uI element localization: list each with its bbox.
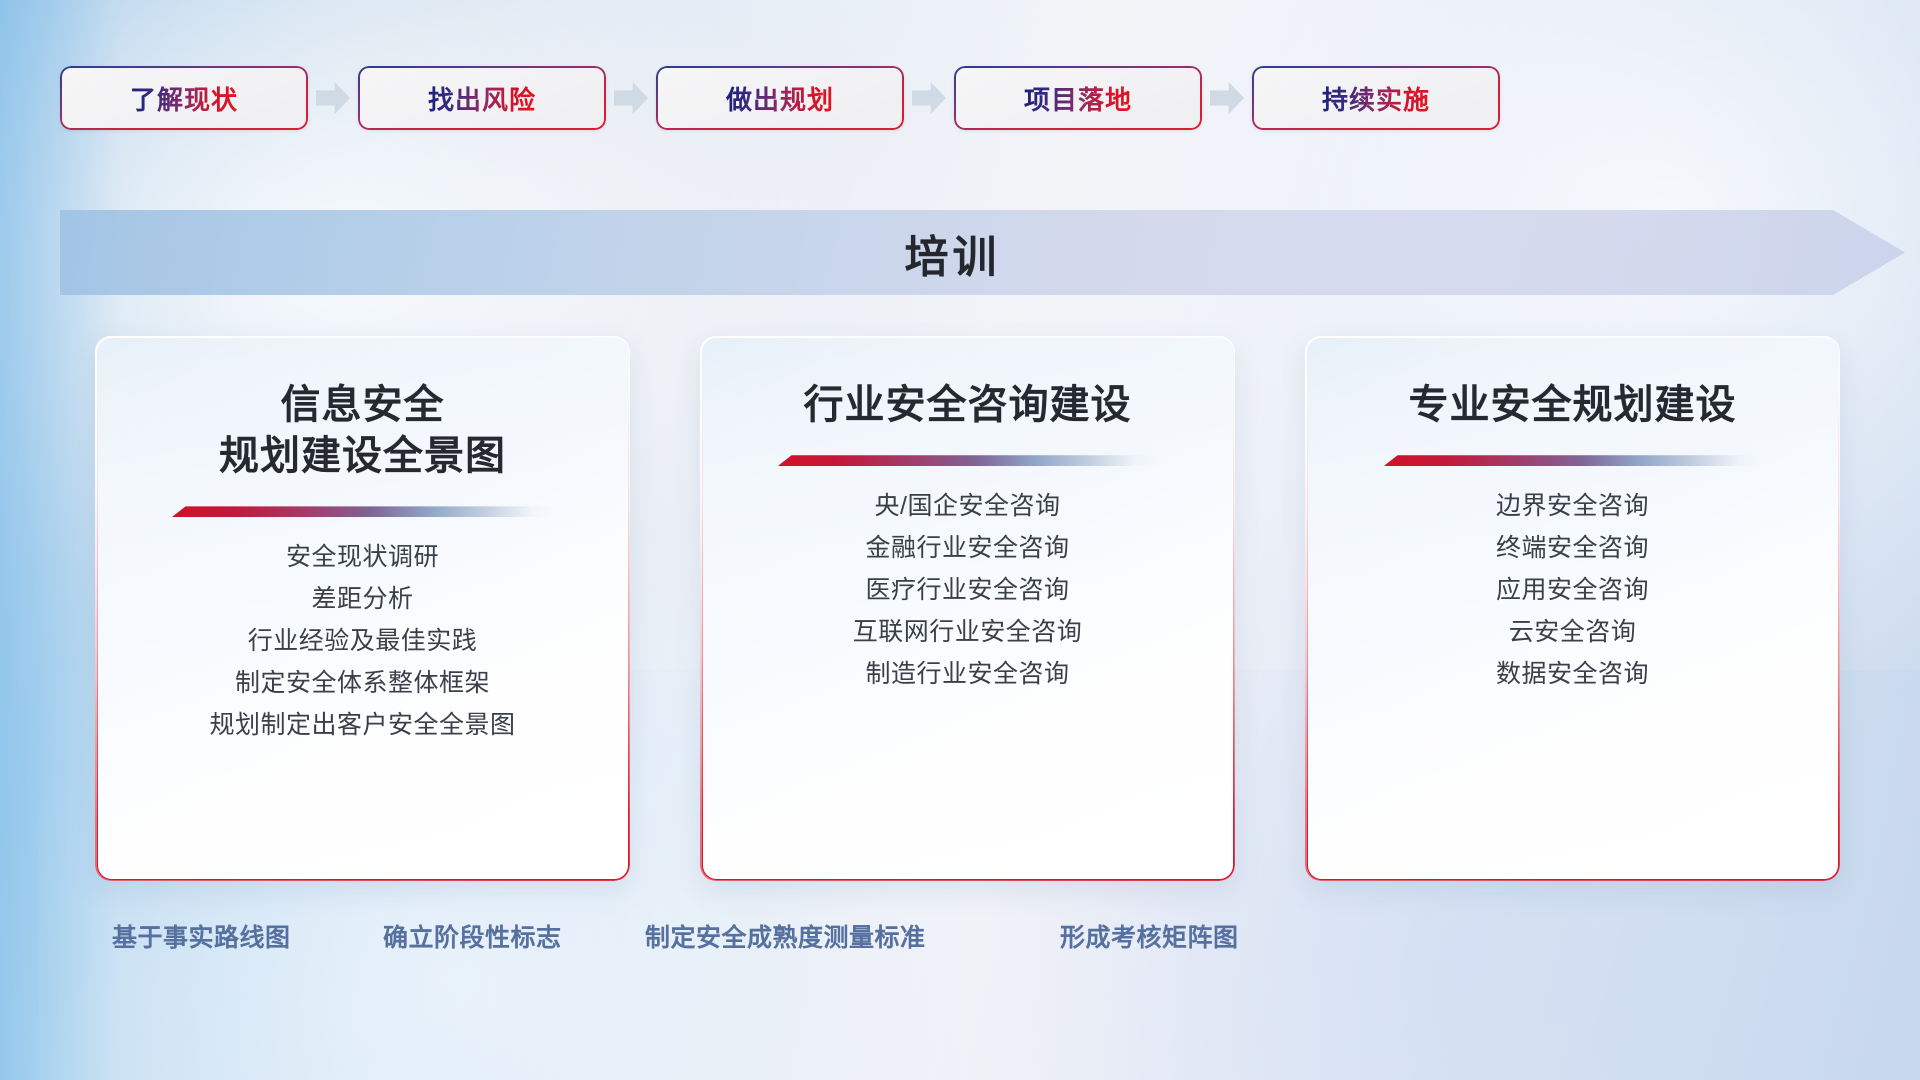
step-pill-3[interactable]: 做出规划 xyxy=(656,66,904,130)
card-divider xyxy=(778,455,1158,466)
list-item: 央/国企安全咨询 xyxy=(853,494,1083,519)
card-information-security-blueprint[interactable]: 信息安全 规划建设全景图 安全现状调研 差距分析 行业经验及最佳实践 制定安全体… xyxy=(95,336,630,881)
process-step-row: 了解现状 找出风险 做出规划 项目落地 持续实施 xyxy=(60,62,1860,134)
step-label: 项目落地 xyxy=(1024,80,1132,117)
list-item: 制造行业安全咨询 xyxy=(853,662,1083,687)
card-industry-security-consulting[interactable]: 行业安全咨询建设 央/国企安全咨询 金融行业安全咨询 医疗行业安全咨询 互联网行… xyxy=(700,336,1235,881)
card-title: 行业安全咨询建设 xyxy=(804,380,1132,431)
banner-title: 培训 xyxy=(60,210,1905,295)
step-pill-1[interactable]: 了解现状 xyxy=(60,66,308,130)
step-arrow-icon-4 xyxy=(1202,78,1252,118)
caption-roadmap: 基于事实路线图 xyxy=(112,918,291,954)
card-item-list: 边界安全咨询 终端安全咨询 应用安全咨询 云安全咨询 数据安全咨询 xyxy=(1496,494,1649,687)
list-item: 金融行业安全咨询 xyxy=(853,536,1083,561)
step-arrow-icon-3 xyxy=(904,78,954,118)
list-item: 制定安全体系整体框架 xyxy=(209,671,515,696)
step-label: 做出规划 xyxy=(726,80,834,117)
step-label: 了解现状 xyxy=(130,80,238,117)
training-banner: 培训 xyxy=(60,210,1905,295)
caption-maturity-model: 制定安全成熟度测量标准 xyxy=(645,918,926,954)
list-item: 行业经验及最佳实践 xyxy=(209,629,515,654)
step-arrow-icon-1 xyxy=(308,78,358,118)
step-pill-4[interactable]: 项目落地 xyxy=(954,66,1202,130)
card-divider xyxy=(1384,455,1762,466)
step-arrow-icon-2 xyxy=(606,78,656,118)
list-item: 医疗行业安全咨询 xyxy=(853,578,1083,603)
list-item: 安全现状调研 xyxy=(209,545,515,570)
card-divider xyxy=(172,506,554,517)
card-title: 专业安全规划建设 xyxy=(1409,380,1737,431)
list-item: 差距分析 xyxy=(209,587,515,612)
list-item: 互联网行业安全咨询 xyxy=(853,620,1083,645)
card-item-list: 安全现状调研 差距分析 行业经验及最佳实践 制定安全体系整体框架 规划制定出客户… xyxy=(209,545,515,738)
step-label: 找出风险 xyxy=(428,80,536,117)
step-label: 持续实施 xyxy=(1322,80,1430,117)
card-title: 信息安全 规划建设全景图 xyxy=(219,380,506,482)
card-professional-security-planning[interactable]: 专业安全规划建设 边界安全咨询 终端安全咨询 应用安全咨询 云安全咨询 数据安全… xyxy=(1305,336,1840,881)
list-item: 边界安全咨询 xyxy=(1496,494,1649,519)
card-item-list: 央/国企安全咨询 金融行业安全咨询 医疗行业安全咨询 互联网行业安全咨询 制造行… xyxy=(853,494,1083,687)
step-pill-5[interactable]: 持续实施 xyxy=(1252,66,1500,130)
step-pill-2[interactable]: 找出风险 xyxy=(358,66,606,130)
caption-row: 基于事实路线图 确立阶段性标志 制定安全成熟度测量标准 形成考核矩阵图 xyxy=(0,918,1920,962)
list-item: 数据安全咨询 xyxy=(1496,662,1649,687)
list-item: 规划制定出客户安全全景图 xyxy=(209,713,515,738)
caption-assessment-matrix: 形成考核矩阵图 xyxy=(1060,918,1239,954)
list-item: 应用安全咨询 xyxy=(1496,578,1649,603)
list-item: 终端安全咨询 xyxy=(1496,536,1649,561)
list-item: 云安全咨询 xyxy=(1496,620,1649,645)
caption-milestones: 确立阶段性标志 xyxy=(383,918,562,954)
card-row: 信息安全 规划建设全景图 安全现状调研 差距分析 行业经验及最佳实践 制定安全体… xyxy=(95,336,1840,881)
